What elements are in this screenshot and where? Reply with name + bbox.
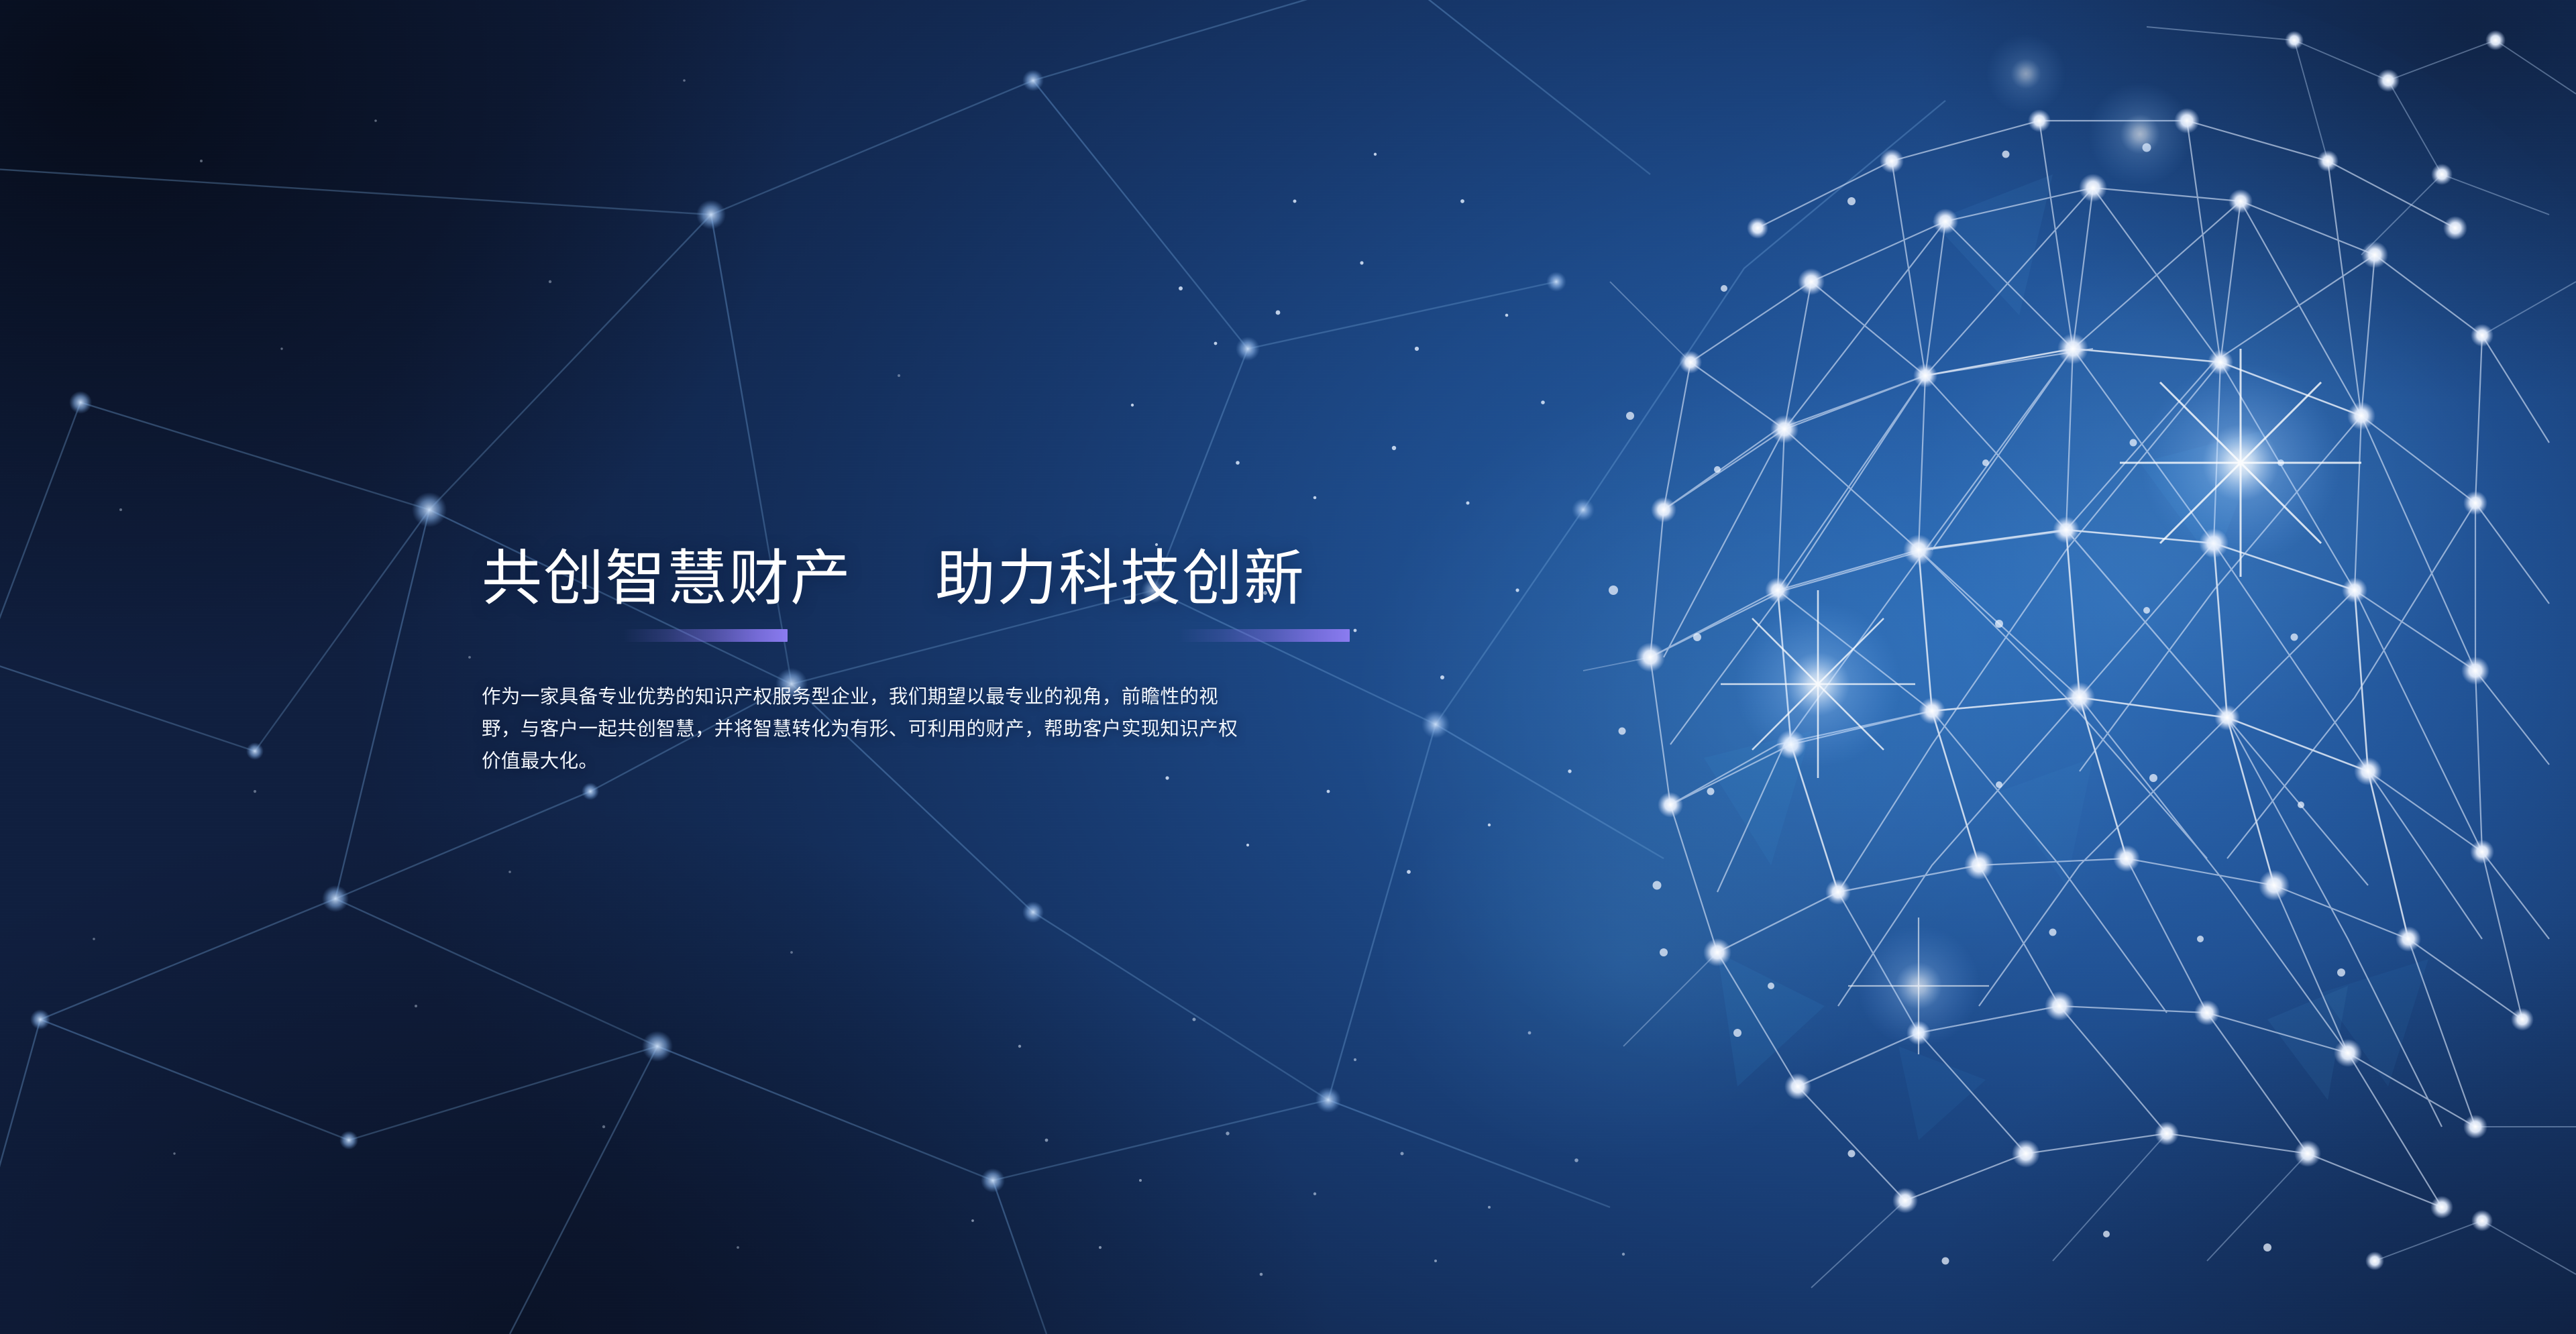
headline-phrase-2-text: 助力科技创新 <box>935 549 1350 609</box>
headline-accent-rule-1 <box>623 629 788 642</box>
hero-banner: 共创智慧财产 助力科技创新 作为一家具备专业优势的知识产权服务型企业，我们期望以… <box>0 0 2576 1334</box>
headline-phrase-1: 共创智慧财产 <box>482 549 852 642</box>
hero-copy-block: 共创智慧财产 助力科技创新 作为一家具备专业优势的知识产权服务型企业，我们期望以… <box>482 549 1434 797</box>
page-title: 共创智慧财产 助力科技创新 <box>482 549 1434 642</box>
headline-accent-rule-2 <box>1178 629 1350 642</box>
headline-phrase-1-text: 共创智慧财产 <box>482 549 852 609</box>
headline-phrase-2: 助力科技创新 <box>935 549 1350 642</box>
hero-description: 作为一家具备专业优势的知识产权服务型企业，我们期望以最专业的视角，前瞻性的视野，… <box>482 681 1253 777</box>
